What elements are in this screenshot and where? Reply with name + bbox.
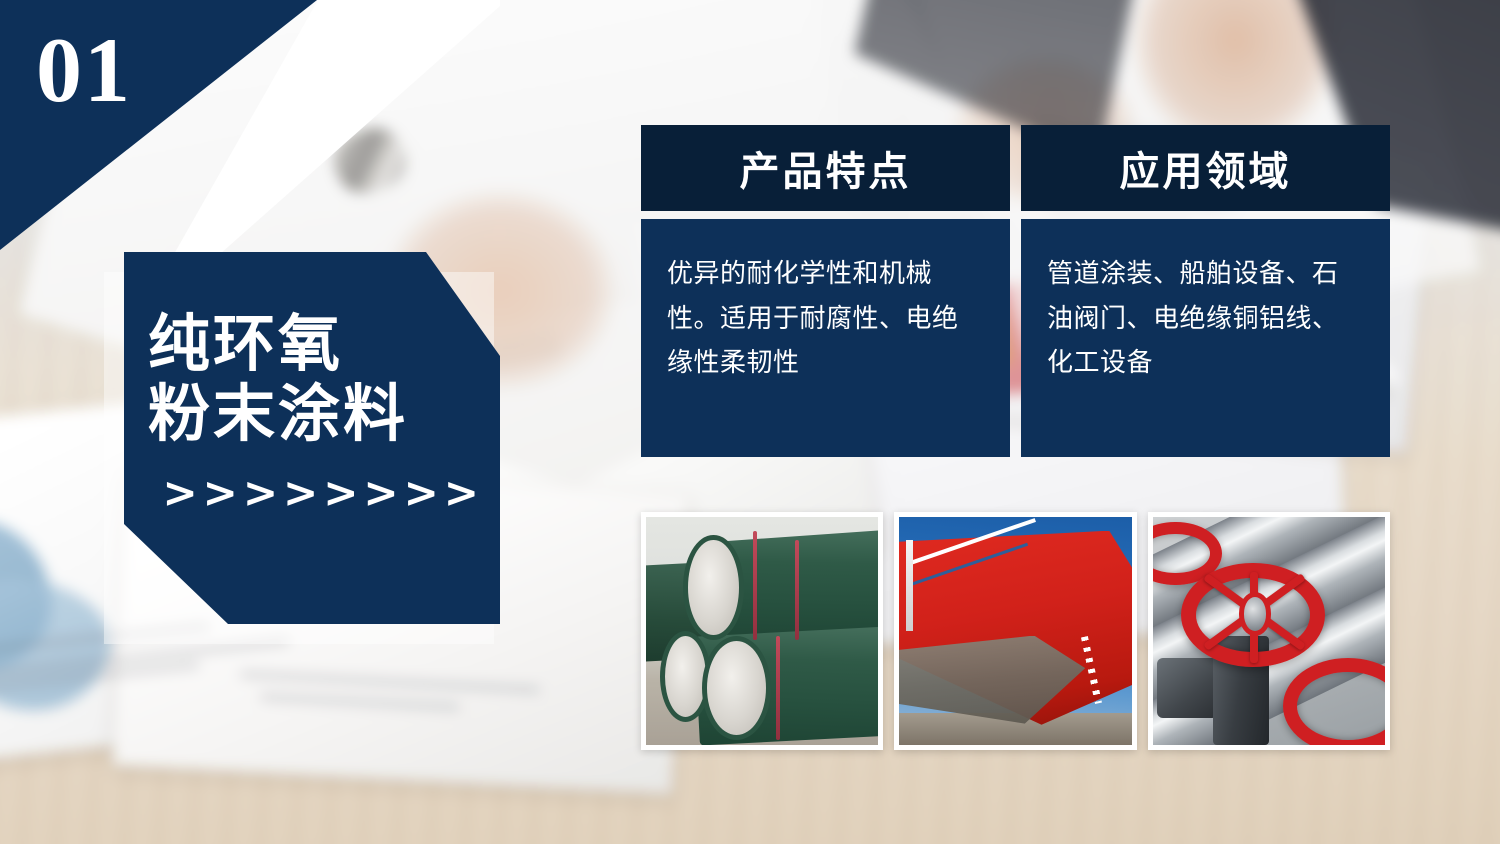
thumbnail-green-coated-pipes bbox=[641, 512, 883, 750]
panel-product-features: 产品特点 优异的耐化学性和机械性。适用于耐腐性、电绝缘性柔韧性 bbox=[641, 125, 1010, 457]
chevron-arrows-icon: >>>>>>>> bbox=[124, 468, 500, 517]
info-panels: 产品特点 优异的耐化学性和机械性。适用于耐腐性、电绝缘性柔韧性 应用领域 管道涂… bbox=[641, 125, 1390, 457]
title-card: 纯环氧 粉末涂料 >>>>>>>> bbox=[124, 252, 500, 624]
panel-body-application-areas: 管道涂装、船舶设备、石油阀门、电绝缘铜铝线、化工设备 bbox=[1021, 219, 1390, 457]
title-line-1: 纯环氧 bbox=[124, 310, 500, 380]
slide-root: 01 纯环氧 粉末涂料 >>>>>>>> 产品特点 优异的耐化学性和机械性。适用… bbox=[0, 0, 1500, 844]
title-line-2: 粉末涂料 bbox=[124, 380, 500, 450]
thumbnail-red-ship-hull bbox=[894, 512, 1136, 750]
panel-header-product-features: 产品特点 bbox=[641, 125, 1010, 211]
panel-application-areas: 应用领域 管道涂装、船舶设备、石油阀门、电绝缘铜铝线、化工设备 bbox=[1021, 125, 1390, 457]
panel-heading-text: 产品特点 bbox=[740, 139, 912, 197]
thumbnail-red-valve-handwheels bbox=[1148, 512, 1390, 750]
panel-heading-text: 应用领域 bbox=[1120, 139, 1292, 197]
section-number: 01 bbox=[36, 24, 132, 116]
thumbnail-strip bbox=[641, 512, 1390, 750]
panel-header-application-areas: 应用领域 bbox=[1021, 125, 1390, 211]
panel-body-product-features: 优异的耐化学性和机械性。适用于耐腐性、电绝缘性柔韧性 bbox=[641, 219, 1010, 457]
panel-body-text: 管道涂装、船舶设备、石油阀门、电绝缘铜铝线、化工设备 bbox=[1047, 251, 1364, 385]
panel-body-text: 优异的耐化学性和机械性。适用于耐腐性、电绝缘性柔韧性 bbox=[667, 251, 984, 385]
